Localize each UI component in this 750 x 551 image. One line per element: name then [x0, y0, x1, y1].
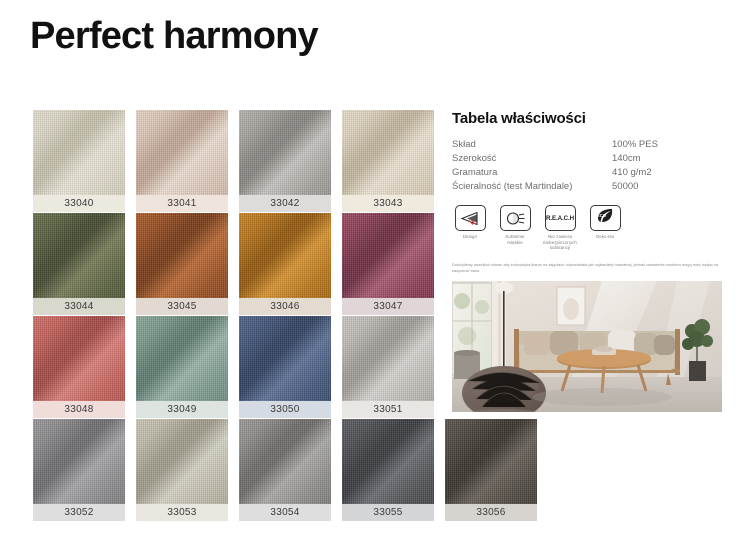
fabric-swatch[interactable]: 33046 — [239, 213, 331, 315]
fabric-swatch[interactable]: 33054 — [239, 419, 331, 521]
fabric-swatch[interactable]: 33050 — [239, 316, 331, 418]
fabric-swatch-image[interactable] — [342, 419, 434, 504]
certification-badge: Subtelnie miękkie — [497, 205, 533, 251]
fabric-swatch[interactable]: 33053 — [136, 419, 228, 521]
property-row: Skład100% PES — [452, 139, 724, 153]
fabric-swatch[interactable]: 33042 — [239, 110, 331, 212]
swatch-weave-texture — [33, 419, 125, 504]
soft-touch-icon — [500, 205, 531, 231]
swatch-code-label: 33050 — [239, 401, 331, 418]
design-icon — [455, 205, 486, 231]
swatch-code-label: 33044 — [33, 298, 125, 315]
fabric-swatch-image[interactable] — [239, 110, 331, 195]
properties-table: Skład100% PESSzerokość140cmGramatura410 … — [452, 139, 724, 195]
fabric-swatch-image[interactable] — [33, 110, 125, 195]
property-label: Skład — [452, 139, 608, 153]
swatch-code-label: 33041 — [136, 195, 228, 212]
swatch-weave-texture — [136, 419, 228, 504]
property-row: Gramatura410 g/m2 — [452, 167, 724, 181]
swatch-code-label: 33055 — [342, 504, 434, 521]
property-label: Szerokość — [452, 153, 608, 167]
fabric-swatch-image[interactable] — [445, 419, 537, 504]
fabric-swatch[interactable]: 33044 — [33, 213, 125, 315]
swatch-weave-texture — [33, 110, 125, 195]
fabric-swatch-image[interactable] — [342, 213, 434, 298]
fabric-swatch-image[interactable] — [342, 316, 434, 401]
reach-icon: R.E.A.C.H — [545, 205, 576, 231]
certification-caption: Design — [452, 234, 488, 240]
swatch-row: 3305233053330543305533056 — [33, 419, 553, 522]
fabric-swatch[interactable]: 33043 — [342, 110, 434, 212]
swatch-weave-texture — [136, 110, 228, 195]
swatch-code-label: 33051 — [342, 401, 434, 418]
property-row: Szerokość140cm — [452, 153, 724, 167]
fabric-swatch[interactable]: 33048 — [33, 316, 125, 418]
fabric-swatch-image[interactable] — [33, 213, 125, 298]
property-row: Ścieralność (test Martindale)50000 — [452, 181, 724, 195]
fabric-swatch-image[interactable] — [33, 316, 125, 401]
fabric-swatch-image[interactable] — [342, 110, 434, 195]
swatch-weave-texture — [239, 213, 331, 298]
swatch-weave-texture — [239, 110, 331, 195]
swatch-code-label: 33043 — [342, 195, 434, 212]
certification-badge: ECOOeko-tex — [587, 205, 623, 251]
leaf-glyph: ECO — [595, 208, 615, 228]
fabric-swatch[interactable]: 33041 — [136, 110, 228, 212]
certification-badge: R.E.A.C.HNie zawiera niebezpiecznych sub… — [542, 205, 578, 251]
swatch-code-label: 33056 — [445, 504, 537, 521]
fabric-swatch-image[interactable] — [136, 316, 228, 401]
swatch-weave-texture — [136, 213, 228, 298]
fabric-swatch-image[interactable] — [239, 419, 331, 504]
swatch-weave-texture — [342, 419, 434, 504]
swatch-code-label: 33053 — [136, 504, 228, 521]
property-label: Gramatura — [452, 167, 608, 181]
property-value: 140cm — [608, 153, 724, 167]
property-label: Ścieralność (test Martindale) — [452, 181, 608, 195]
fabric-swatch[interactable]: 33040 — [33, 110, 125, 212]
swatch-weave-texture — [33, 213, 125, 298]
swatch-weave-texture — [342, 316, 434, 401]
living-room-illustration — [452, 281, 722, 412]
swatch-code-label: 33054 — [239, 504, 331, 521]
fabric-swatch[interactable]: 33056 — [445, 419, 537, 521]
fabric-swatch[interactable]: 33049 — [136, 316, 228, 418]
swatch-code-label: 33045 — [136, 298, 228, 315]
swatch-weave-texture — [342, 110, 434, 195]
swatch-code-label: 33046 — [239, 298, 331, 315]
swatch-code-label: 33052 — [33, 504, 125, 521]
fabric-swatch[interactable]: 33047 — [342, 213, 434, 315]
swatch-code-label: 33040 — [33, 195, 125, 212]
certification-caption: Oeko-tex — [587, 234, 623, 240]
fabric-swatch-image[interactable] — [239, 213, 331, 298]
certification-caption: Nie zawiera niebezpiecznych substancji — [542, 234, 578, 251]
fabric-swatch-image[interactable] — [136, 110, 228, 195]
fabric-swatch[interactable]: 33051 — [342, 316, 434, 418]
property-value: 410 g/m2 — [608, 167, 724, 181]
page-title: Perfect harmony — [30, 16, 318, 58]
swatch-code-label: 33047 — [342, 298, 434, 315]
fabric-swatch-image[interactable] — [136, 419, 228, 504]
swatch-weave-texture — [33, 316, 125, 401]
property-value: 100% PES — [608, 139, 724, 153]
certification-badge: Design — [452, 205, 488, 251]
swatch-weave-texture — [239, 316, 331, 401]
fabric-swatch-image[interactable] — [33, 419, 125, 504]
living-room-lifestyle-photo — [452, 281, 722, 412]
fabric-swatch[interactable]: 33052 — [33, 419, 125, 521]
fabric-swatch-image[interactable] — [136, 213, 228, 298]
certification-caption: Subtelnie miękkie — [497, 234, 533, 245]
swatch-weave-texture — [239, 419, 331, 504]
swatch-weave-texture — [445, 419, 537, 504]
property-value: 50000 — [608, 181, 724, 195]
swatch-weave-texture — [342, 213, 434, 298]
reach-badge-text: R.E.A.C.H — [546, 215, 574, 222]
disclaimer-paragraph-1: Dołożyliśmy wszelkich starań aby kolorys… — [452, 262, 720, 274]
right-panel: Tabela właściwości Skład100% PESSzerokoś… — [452, 110, 724, 292]
swatch-weave-texture — [136, 316, 228, 401]
fabric-swatch-image[interactable] — [239, 316, 331, 401]
swatch-code-label: 33048 — [33, 401, 125, 418]
fabric-swatch[interactable]: 33055 — [342, 419, 434, 521]
swatch-code-label: 33049 — [136, 401, 228, 418]
swatch-code-label: 33042 — [239, 195, 331, 212]
properties-title: Tabela właściwości — [452, 110, 724, 127]
fabric-swatch[interactable]: 33045 — [136, 213, 228, 315]
certification-icon-row: DesignSubtelnie miękkieR.E.A.C.HNie zawi… — [452, 205, 724, 251]
eco-badge-text: ECO — [597, 213, 606, 218]
oeko-tex-leaf-icon: ECO — [590, 205, 621, 231]
